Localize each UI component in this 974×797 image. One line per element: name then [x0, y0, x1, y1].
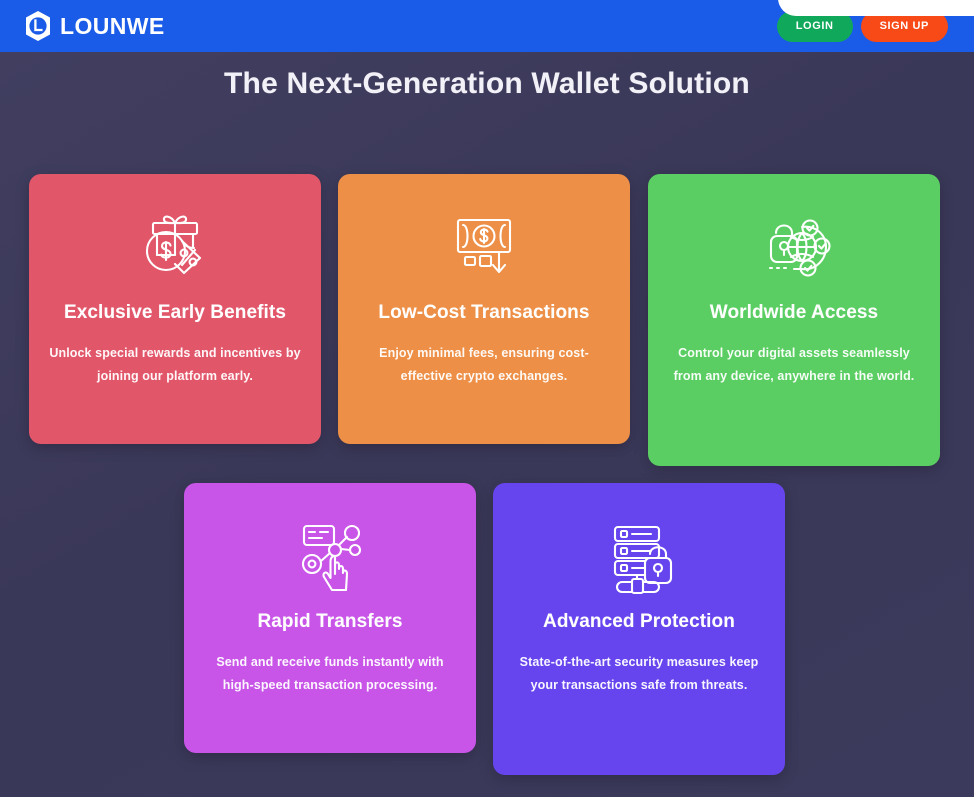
gift-coin-discount-icon [127, 200, 223, 292]
feature-card-low-cost-transactions[interactable]: Low-Cost Transactions Enjoy minimal fees… [338, 174, 630, 444]
server-lock-icon [591, 509, 687, 601]
banknote-down-arrow-icon [436, 200, 532, 292]
feature-card-advanced-protection[interactable]: Advanced Protection State-of-the-art sec… [493, 483, 785, 775]
feature-card-title: Rapid Transfers [257, 611, 402, 633]
hexagon-l-logo-icon [23, 10, 53, 42]
feature-card-grid: Exclusive Early Benefits Unlock special … [0, 52, 974, 797]
browser-overlay-panel [778, 0, 974, 16]
feature-card-description: Control your digital assets seamlessly f… [668, 342, 920, 388]
feature-card-exclusive-early-benefits[interactable]: Exclusive Early Benefits Unlock special … [29, 174, 321, 444]
feature-card-description: Unlock special rewards and incentives by… [49, 342, 301, 388]
brand-logo[interactable]: LOUNWE [23, 10, 165, 42]
lock-globe-check-icon [746, 200, 842, 292]
feature-card-title: Worldwide Access [710, 302, 878, 324]
brand-name: LOUNWE [60, 15, 165, 38]
feature-card-description: State-of-the-art security measures keep … [513, 651, 765, 697]
feature-card-description: Enjoy minimal fees, ensuring cost-effect… [358, 342, 610, 388]
feature-card-worldwide-access[interactable]: Worldwide Access Control your digital as… [648, 174, 940, 466]
feature-card-title: Exclusive Early Benefits [64, 302, 286, 324]
feature-card-rapid-transfers[interactable]: Rapid Transfers Send and receive funds i… [184, 483, 476, 753]
page-body: The Next-Generation Wallet Solution [0, 52, 974, 797]
feature-card-description: Send and receive funds instantly with hi… [204, 651, 456, 697]
feature-card-title: Advanced Protection [543, 611, 735, 633]
feature-card-title: Low-Cost Transactions [378, 302, 589, 324]
hand-network-nodes-icon [282, 509, 378, 601]
